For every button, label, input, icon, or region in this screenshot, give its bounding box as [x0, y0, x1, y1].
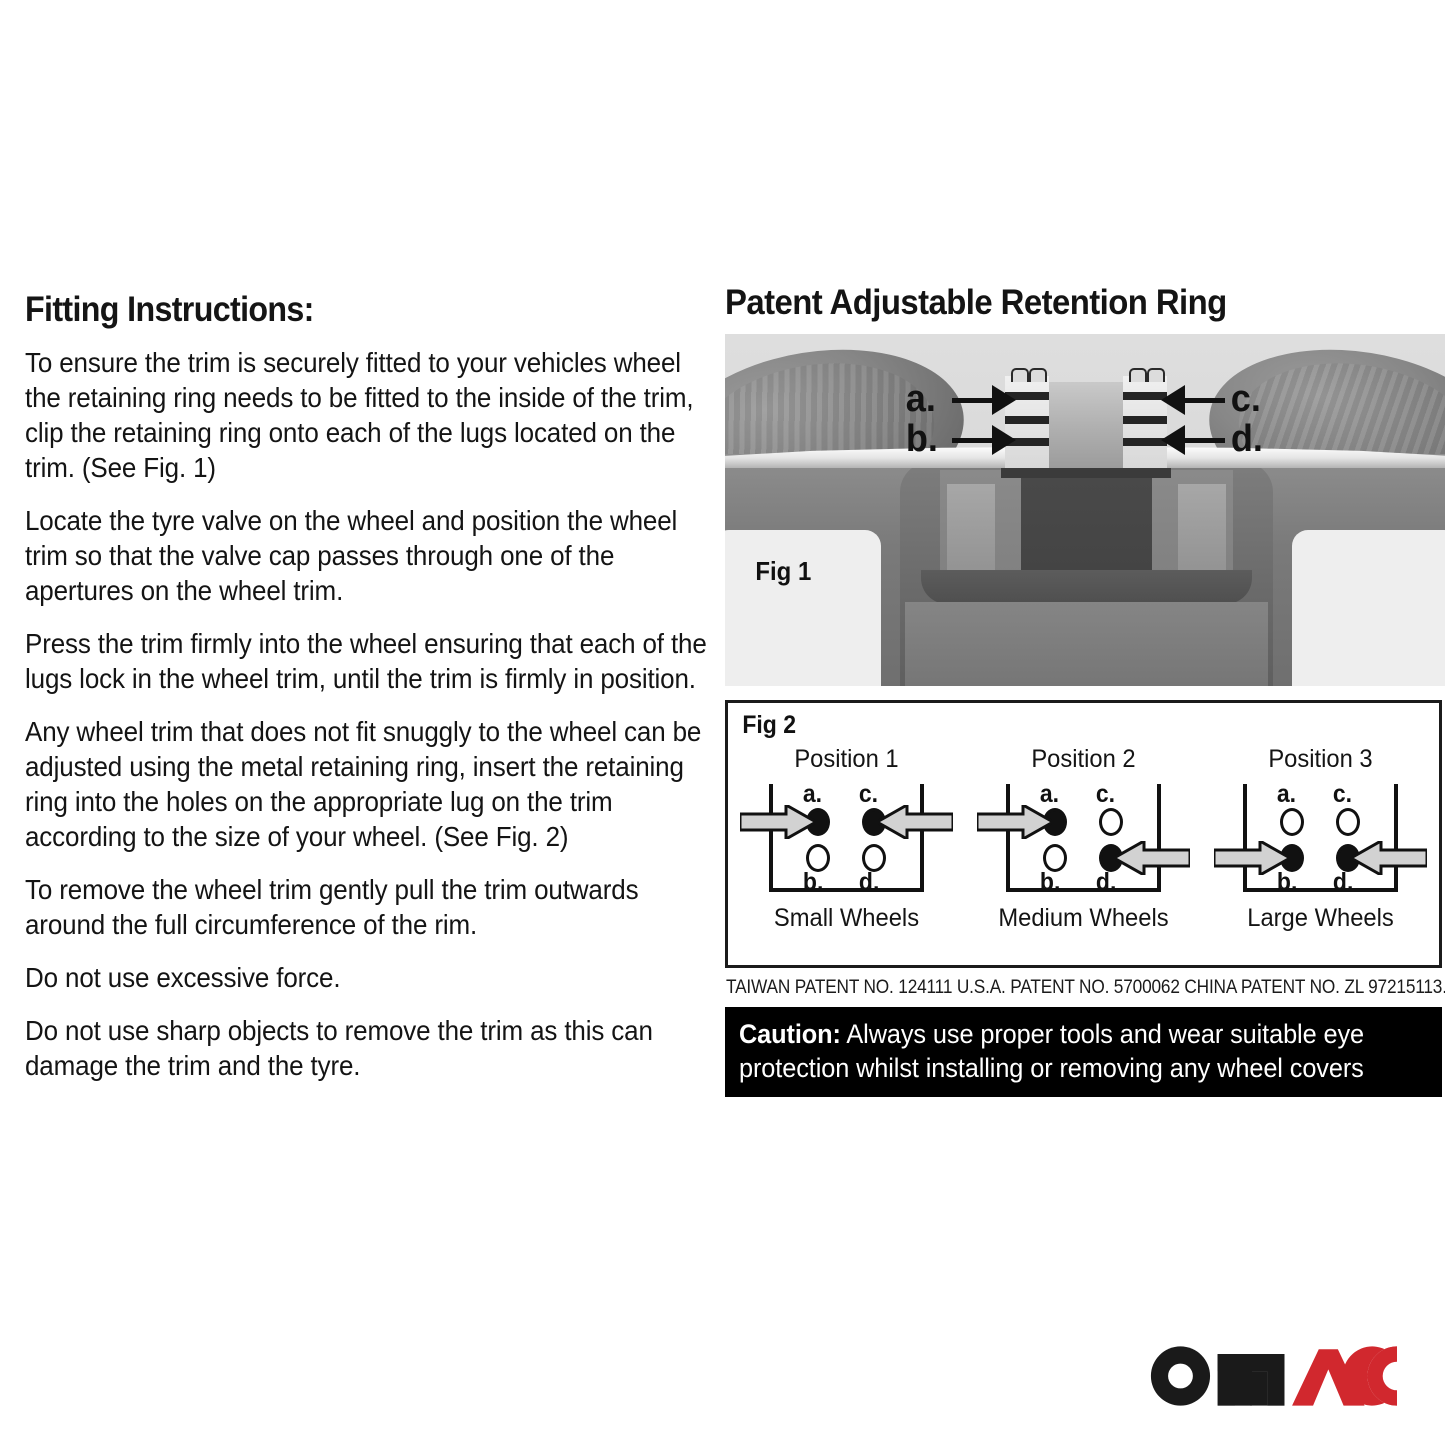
arrow-right: [877, 805, 953, 839]
arrow-right: [1351, 841, 1427, 875]
fig1-label-d: d.: [1231, 420, 1263, 458]
hole-label-c: c.: [1096, 782, 1115, 807]
instruction-paragraph-1: To ensure the trim is securely fitted to…: [25, 345, 709, 485]
retention-ring-title: Patent Adjustable Retention Ring: [725, 285, 1402, 320]
instruction-paragraph-7: Do not use sharp objects to remove the t…: [25, 1013, 709, 1083]
hole-label-a: a.: [1277, 782, 1296, 807]
ring-tab-2: [1029, 368, 1047, 382]
hole-b: [806, 844, 830, 872]
fig2-positions: Position 1 a. c. b. d.: [728, 745, 1439, 933]
hole-b: [1043, 844, 1067, 872]
omac-logo: [1149, 1345, 1397, 1407]
position-3-diagram: a. c. b. d.: [1218, 784, 1423, 896]
hole-d: [862, 844, 886, 872]
fig2-tag: Fig 2: [742, 711, 796, 740]
fig1-tag: Fig 1: [755, 556, 811, 587]
caution-label: Caution:: [739, 1019, 841, 1049]
instruction-paragraph-6: Do not use excessive force.: [25, 960, 709, 995]
ring-tab-3: [1129, 368, 1147, 382]
wheel-trim-lower: [905, 602, 1268, 686]
fig2-diagram: Fig 2 Position 1 a. c. b. d.: [725, 700, 1442, 968]
position-2: Position 2 a. c. b. d.: [965, 745, 1202, 933]
position-3-title: Position 3: [1208, 745, 1433, 774]
position-2-title: Position 2: [971, 745, 1196, 774]
arrow-left: [1214, 841, 1290, 875]
fig1-photo: a. b. c. d. Fig 1: [725, 334, 1445, 686]
instruction-paragraph-5: To remove the wheel trim gently pull the…: [25, 872, 709, 942]
omac-logo-mark: [1149, 1346, 1397, 1406]
position-1-title: Position 1: [734, 745, 959, 774]
fig1-label-a: a.: [906, 380, 936, 418]
patent-numbers: TAIWAN PATENT NO. 124111 U.S.A. PATENT N…: [726, 976, 1362, 999]
caution-text: Caution: Always use proper tools and wea…: [739, 1017, 1445, 1085]
position-2-diagram: a. c. b. d.: [981, 784, 1186, 896]
position-1-diagram: a. c. b. d.: [744, 784, 949, 896]
arrow-left: [977, 805, 1053, 839]
instruction-paragraph-2: Locate the tyre valve on the wheel and p…: [25, 503, 709, 608]
arrow-left: [740, 805, 816, 839]
hole-label-a: a.: [803, 782, 822, 807]
position-3-footer: Large Wheels: [1208, 904, 1433, 933]
caution-box: Caution: Always use proper tools and wea…: [725, 1007, 1442, 1097]
retention-ring-column: Patent Adjustable Retention Ring: [722, 285, 1445, 1097]
trim-pad-left: [725, 530, 881, 686]
hole-label-a: a.: [1040, 782, 1059, 807]
instruction-sheet: Fitting Instructions: To ensure the trim…: [0, 0, 1445, 1445]
hole-label-b: b.: [1040, 870, 1060, 895]
arrow-right: [1114, 841, 1190, 875]
wheel-trim-shelf: [921, 570, 1252, 604]
lug-assembly: [1001, 376, 1171, 472]
position-1-footer: Small Wheels: [734, 904, 959, 933]
fig1-label-b: b.: [906, 420, 938, 458]
lug-core: [1049, 382, 1123, 472]
ring-tab-4: [1147, 368, 1165, 382]
position-2-footer: Medium Wheels: [971, 904, 1196, 933]
position-3: Position 3 a. c. b. d.: [1202, 745, 1439, 933]
lug-band-b: [1005, 416, 1049, 424]
hole-a: [1280, 808, 1304, 836]
position-1: Position 1 a. c. b. d.: [728, 745, 965, 933]
lug-shadow: [1001, 468, 1171, 478]
hole-label-b: b.: [803, 870, 823, 895]
lug-band-e: [1123, 416, 1167, 424]
hole-label-c: c.: [1333, 782, 1352, 807]
instruction-paragraph-4: Any wheel trim that does not fit snuggly…: [25, 714, 709, 854]
fitting-instructions-column: Fitting Instructions: To ensure the trim…: [25, 292, 705, 1083]
hole-c: [1099, 808, 1123, 836]
hole-label-d: d.: [859, 870, 879, 895]
fig1-label-c: c.: [1231, 380, 1261, 418]
trim-pad-right: [1292, 530, 1445, 686]
hole-label-c: c.: [859, 782, 878, 807]
page-title: Fitting Instructions:: [25, 292, 651, 327]
lug-outline: [1243, 784, 1398, 892]
hole-c: [1336, 808, 1360, 836]
instruction-paragraph-3: Press the trim firmly into the wheel ens…: [25, 626, 709, 696]
ring-tab-1: [1011, 368, 1029, 382]
